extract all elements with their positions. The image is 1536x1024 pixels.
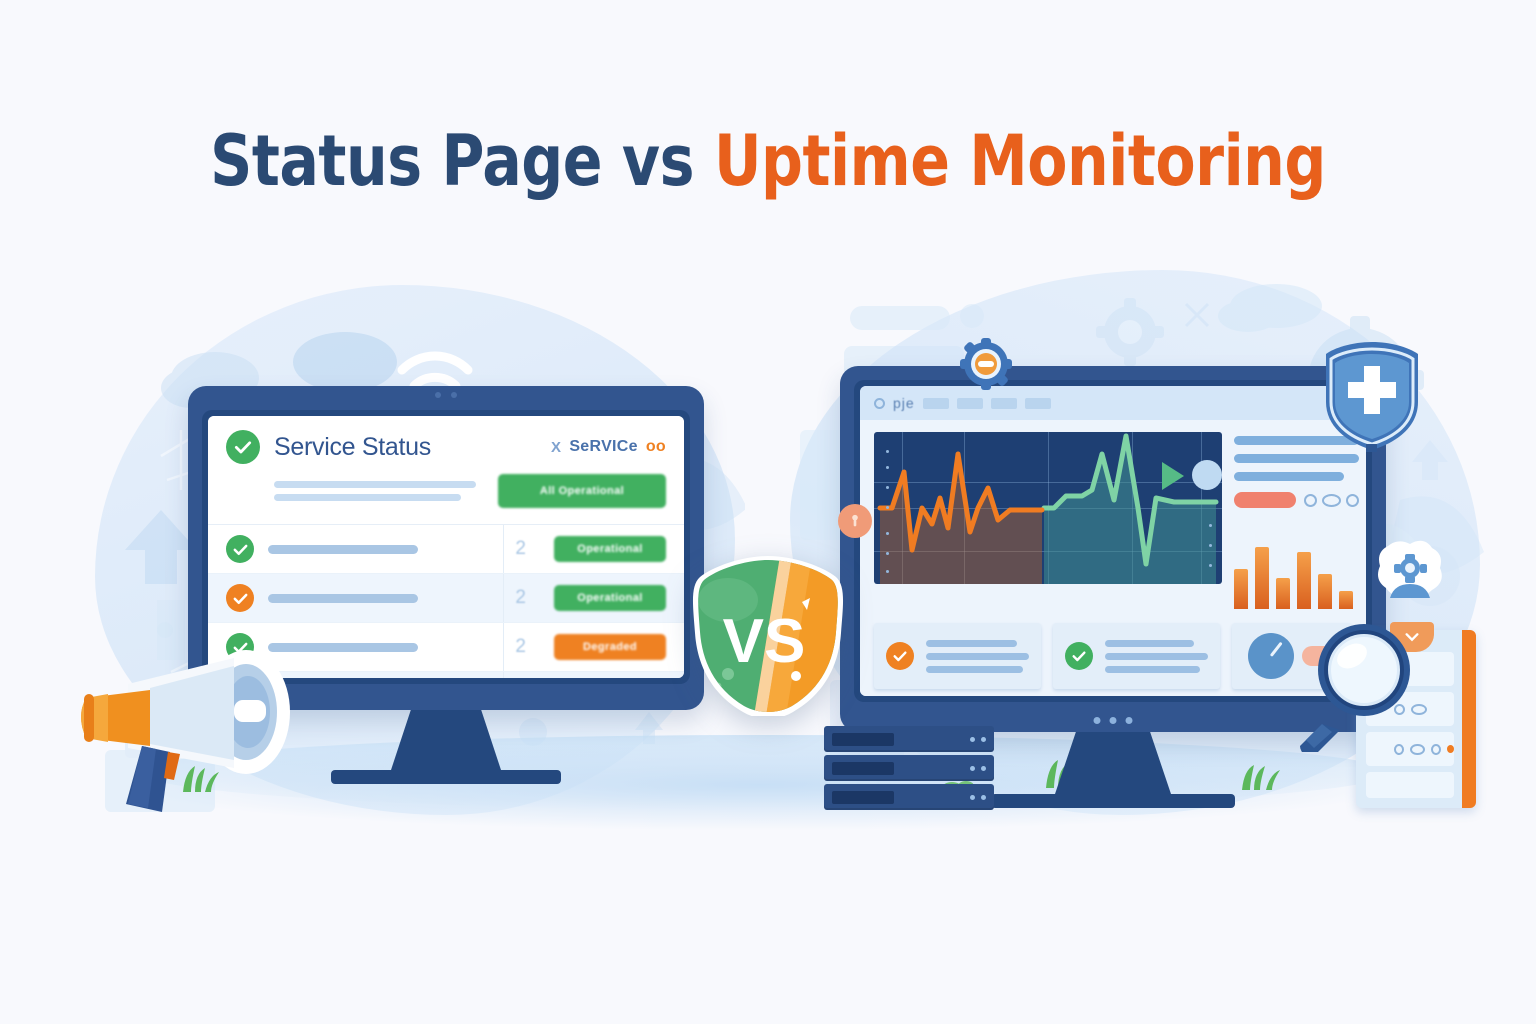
uptime-chart [874,432,1222,584]
row-count: 2 [504,636,526,658]
table-row[interactable]: 2 Operational [208,525,684,574]
record-dot-icon [874,398,885,409]
magnifier-icon [1292,612,1418,752]
logo-x-mark: X [551,439,561,456]
gear-badge-icon [960,338,1012,390]
logo-wordmark: SeRVICe [569,438,638,456]
service-logo: X SeRVICe oo [551,438,666,456]
logo-suffix: oo [646,438,666,456]
row-divider [503,672,504,678]
service-status-header: Service Status X SeRVICe oo [208,416,684,525]
vs-badge: VS [688,556,848,716]
svg-text:VS: VS [723,607,806,676]
check-circle-icon [226,584,254,612]
outline-circles [1304,494,1359,507]
user-gear-icon [1372,540,1448,610]
table-row[interactable]: 2 Operational [208,574,684,623]
dashboard-side-panel [1234,432,1359,609]
server-stack-icon [824,726,994,821]
dashboard-card-row [874,609,1352,696]
title-part-a: Status Page [210,120,602,202]
title-part-b: Uptime Monitoring [714,120,1326,202]
monitor-stand-neck [391,710,501,770]
row-count: 2 [504,538,526,560]
row-count: 2 [504,587,526,609]
monitor-stand-base [991,794,1235,808]
monitor-stand-base [331,770,561,784]
title-connector: vs [622,120,694,202]
uptime-dashboard-screen[interactable]: pje [860,386,1366,696]
monitor-indicator-dots [1094,717,1133,724]
check-circle-icon [226,430,260,464]
gauge-icon [1248,633,1294,679]
status-badge[interactable]: Operational [554,536,666,562]
play-triangle-marker [1162,462,1184,490]
circle-marker [1192,460,1222,490]
status-card[interactable] [1053,623,1220,689]
check-circle-icon [886,642,914,670]
monitor-stand-neck [1055,732,1171,794]
megaphone-icon [58,628,318,828]
illustration-canvas: Status Page vs Uptime Monitoring [0,0,1536,1024]
dashboard-topbar: pje [860,386,1366,420]
status-badge[interactable]: Degraded [554,634,666,660]
chart-series-paths [874,432,1222,584]
status-badge[interactable]: Operational [554,585,666,611]
shield-plus-icon [1322,340,1422,452]
monitor-camera-dots [435,392,457,398]
server-unit [824,726,994,752]
coral-pill [1234,492,1296,508]
server-unit [824,755,994,781]
server-unit [824,784,994,810]
check-circle-icon [1065,642,1093,670]
status-card[interactable] [874,623,1041,689]
mini-bar-chart [1234,523,1359,609]
all-operational-button[interactable]: All Operational [498,474,666,508]
topbar-label: pje [893,395,915,411]
key-icon [838,504,872,538]
check-circle-icon [226,535,254,563]
clipboard-row [1366,772,1454,798]
header-placeholder-bars [274,481,482,501]
page-title: Status Page vs Uptime Monitoring [0,120,1536,202]
service-status-title: Service Status [274,433,431,462]
